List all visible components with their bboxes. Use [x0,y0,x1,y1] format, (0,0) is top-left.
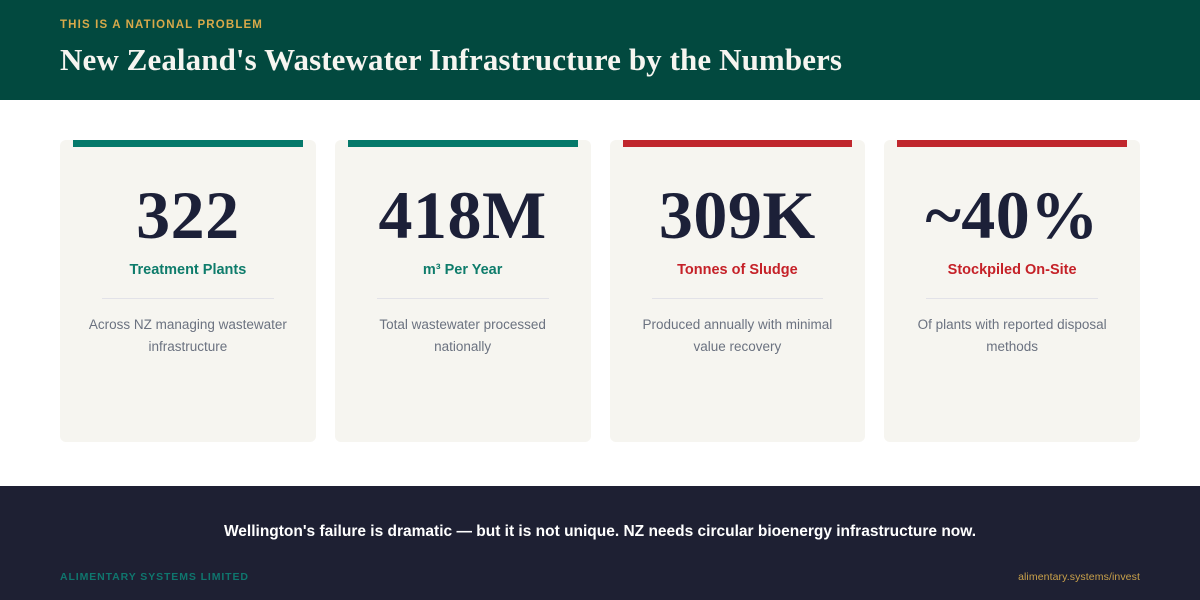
stat-label: Tonnes of Sludge [632,260,844,280]
stat-label: Treatment Plants [82,260,294,280]
stat-card: 322 Treatment Plants Across NZ managing … [60,140,316,442]
footer-meta-row: ALIMENTARY SYSTEMS LIMITED alimentary.sy… [60,570,1140,584]
stat-description: Of plants with reported disposal methods [906,314,1118,358]
card-divider [926,298,1098,299]
card-accent-bar [348,140,578,147]
stats-section: 322 Treatment Plants Across NZ managing … [0,100,1200,486]
stat-value: 322 [82,178,294,252]
card-accent-bar [623,140,853,147]
stat-card: 418M m³ Per Year Total wastewater proces… [335,140,591,442]
card-divider [377,298,549,299]
card-divider [102,298,274,299]
slide-footer: Wellington's failure is dramatic — but i… [0,486,1200,600]
stat-card: ~40% Stockpiled On-Site Of plants with r… [884,140,1140,442]
slide-header: THIS IS A NATIONAL PROBLEM New Zealand's… [0,0,1200,100]
stat-value: 309K [632,178,844,252]
stat-description: Produced annually with minimal value rec… [632,314,844,358]
header-eyebrow: THIS IS A NATIONAL PROBLEM [60,18,1140,32]
card-divider [652,298,824,299]
card-accent-bar [73,140,303,147]
stat-card: 309K Tonnes of Sludge Produced annually … [610,140,866,442]
stat-card-grid: 322 Treatment Plants Across NZ managing … [60,140,1140,442]
footer-brand: ALIMENTARY SYSTEMS LIMITED [60,570,249,584]
stat-value: ~40% [906,178,1118,252]
page-title: New Zealand's Wastewater Infrastructure … [60,42,1140,78]
stat-value: 418M [357,178,569,252]
card-accent-bar [897,140,1127,147]
stat-label: m³ Per Year [357,260,569,280]
footer-tagline: Wellington's failure is dramatic — but i… [60,486,1140,542]
stat-description: Across NZ managing wastewater infrastruc… [82,314,294,358]
slide-root: THIS IS A NATIONAL PROBLEM New Zealand's… [0,0,1200,600]
footer-url-link[interactable]: alimentary.systems/invest [1018,570,1140,584]
stat-description: Total wastewater processed nationally [357,314,569,358]
stat-label: Stockpiled On-Site [906,260,1118,280]
